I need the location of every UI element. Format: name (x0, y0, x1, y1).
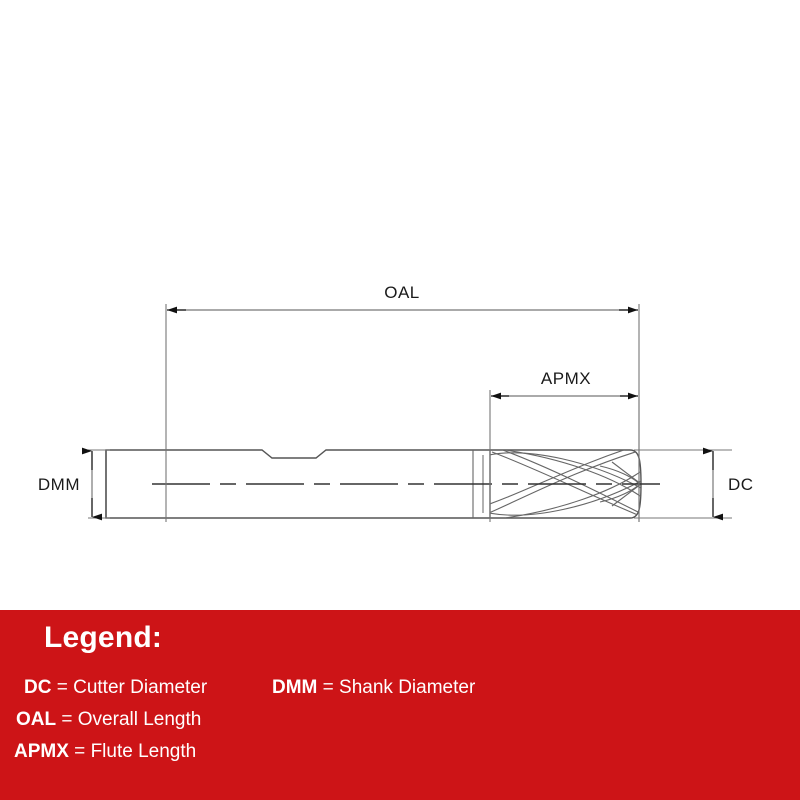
legend-definition-dc: Cutter Diameter (73, 677, 207, 698)
flute-face-2 (489, 481, 641, 515)
legend-entry-oal: OAL = Overall Length (16, 710, 201, 729)
legend-separator-dmm: = (317, 677, 339, 698)
legend-separator-oal: = (56, 709, 78, 730)
helical-flutes (478, 441, 656, 521)
legend-definition-dmm: Shank Diameter (339, 677, 475, 698)
legend-abbr-dmm: DMM (272, 677, 317, 698)
apmx-label: APMX (541, 369, 591, 388)
dc-label: DC (728, 475, 754, 494)
oal-label: OAL (384, 283, 420, 302)
legend-entry-dmm: DMM = Shank Diameter (272, 678, 475, 697)
dmm-dimension: DMM (38, 450, 110, 518)
legend-title: Legend: (44, 621, 162, 655)
legend-entry-dc: DC = Cutter Diameter (24, 678, 207, 697)
technical-drawing-area: OAL APMX DMM (0, 0, 800, 610)
legend-abbr-dc: DC (24, 677, 51, 698)
legend-band: Legend: DC = Cutter Diameter DMM = Shank… (0, 610, 800, 800)
legend-definition-apmx: Flute Length (91, 741, 197, 762)
flute-helix-3 (492, 452, 650, 520)
apmx-dimension: APMX (490, 369, 639, 522)
page-root: OAL APMX DMM (0, 0, 800, 800)
end-mill-drawing-svg: OAL APMX DMM (0, 0, 800, 610)
legend-definition-oal: Overall Length (78, 709, 202, 730)
dmm-label: DMM (38, 475, 80, 494)
legend-abbr-apmx: APMX (14, 741, 69, 762)
legend-separator-dc: = (51, 677, 73, 698)
oal-dimension: OAL (166, 283, 639, 522)
legend-abbr-oal: OAL (16, 709, 56, 730)
legend-entry-apmx: APMX = Flute Length (14, 742, 196, 761)
legend-separator-apmx: = (69, 741, 91, 762)
flute-face-4 (505, 470, 643, 518)
flute-face-3 (505, 450, 643, 498)
